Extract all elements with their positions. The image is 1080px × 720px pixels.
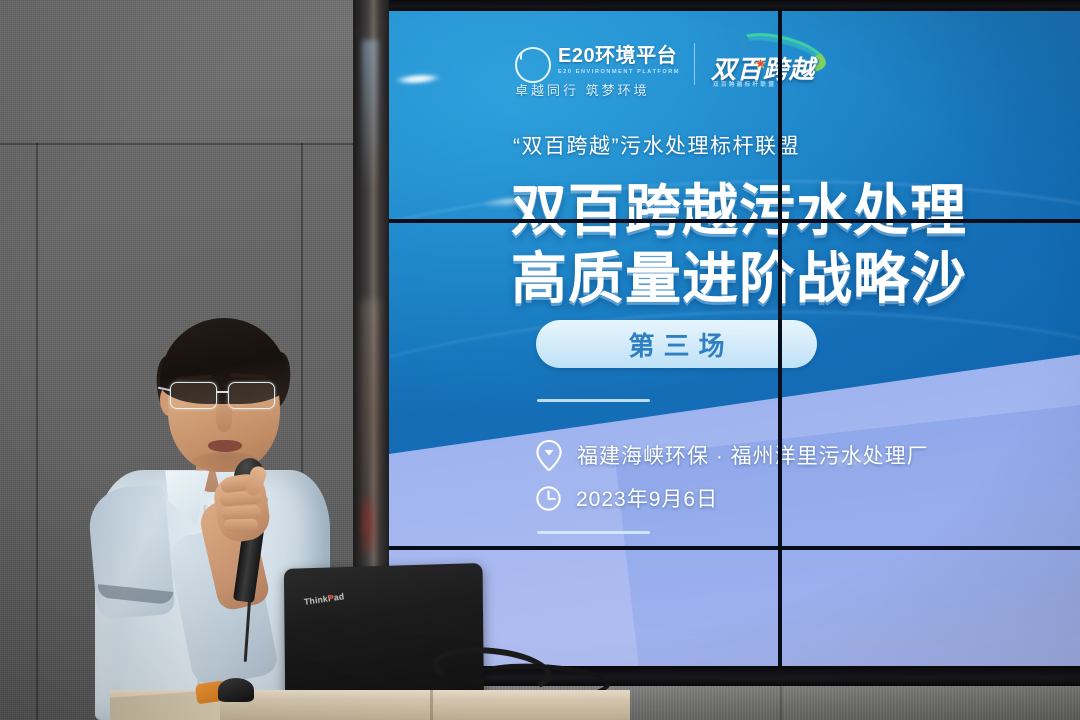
shuangbai-logo-sub: 双百跨越标杆联盟: [713, 80, 776, 88]
baseboard-seam: [780, 686, 782, 720]
e20-swirl-icon: [515, 47, 551, 83]
speaker-finger: [221, 505, 262, 520]
glasses-bridge: [217, 391, 228, 393]
slide-content: E20环境平台 E20 ENVIRONMENT PLATFORM 卓越同行 筑梦…: [389, 11, 1080, 666]
e20-logo-text: E20环境平台 E20 ENVIRONMENT PLATFORM 卓越同行 筑梦…: [558, 46, 680, 75]
speaker-finger: [224, 519, 258, 532]
wall-seam-vertical-left: [36, 143, 38, 720]
thinkpad-red-dot-icon: [329, 595, 333, 599]
video-wall-seam-vertical: [778, 11, 782, 666]
slide-subtitle: “双百跨越”污水处理标杆联盟: [513, 130, 800, 160]
column-reflection-red: [360, 495, 376, 553]
location-pin-icon: [535, 439, 563, 471]
e20-logo-name: E20环境平台: [558, 46, 680, 67]
slide-info-date-text: 2023年9月6日: [576, 483, 718, 513]
e20-logo-english: E20 ENVIRONMENT PLATFORM: [558, 69, 680, 75]
video-wall-bezel-top: [389, 0, 1080, 11]
slide-info-date: 2023年9月6日: [535, 483, 718, 513]
e20-logo-slogan: 卓越同行 筑梦环境: [515, 80, 650, 99]
glasses-lens-right: [228, 382, 275, 409]
clock-icon: [535, 485, 562, 512]
star-icon: [755, 58, 766, 69]
logo-divider: [694, 43, 695, 85]
slide-info-location: 福建海峡环保 · 福州洋里污水处理厂: [535, 439, 929, 471]
info-divider-bottom: [537, 531, 650, 534]
slide-info-location-text: 福建海峡环保 · 福州洋里污水处理厂: [577, 440, 929, 470]
speaker-nose: [216, 398, 232, 432]
session-badge: 第三场: [536, 320, 817, 368]
presentation-slide: E20环境平台 E20 ENVIRONMENT PLATFORM 卓越同行 筑梦…: [389, 11, 1080, 666]
wall-seam-horizontal: [0, 143, 392, 145]
session-badge-label: 第三场: [619, 326, 733, 363]
speaker-mouth: [208, 440, 242, 452]
video-wall-seam-horizontal-bottom: [389, 546, 1080, 550]
info-divider-top: [537, 399, 650, 402]
slide-title-line-2: 高质量进阶战略沙: [511, 234, 967, 315]
video-wall-seam-horizontal-top: [389, 219, 1080, 223]
laptop-brand-label: ThinkPad: [304, 591, 345, 607]
black-object: [218, 678, 254, 702]
screenshot-root: E20环境平台 E20 ENVIRONMENT PLATFORM 卓越同行 筑梦…: [0, 0, 1080, 720]
slide-logo-row: E20环境平台 E20 ENVIRONMENT PLATFORM 卓越同行 筑梦…: [515, 38, 849, 90]
podium-edge: [430, 690, 433, 720]
glasses-lens-left: [170, 382, 217, 409]
e20-logo: E20环境平台 E20 ENVIRONMENT PLATFORM 卓越同行 筑梦…: [515, 46, 680, 83]
video-wall-display[interactable]: E20环境平台 E20 ENVIRONMENT PLATFORM 卓越同行 筑梦…: [389, 0, 1080, 688]
column-reflection-top: [362, 40, 378, 190]
